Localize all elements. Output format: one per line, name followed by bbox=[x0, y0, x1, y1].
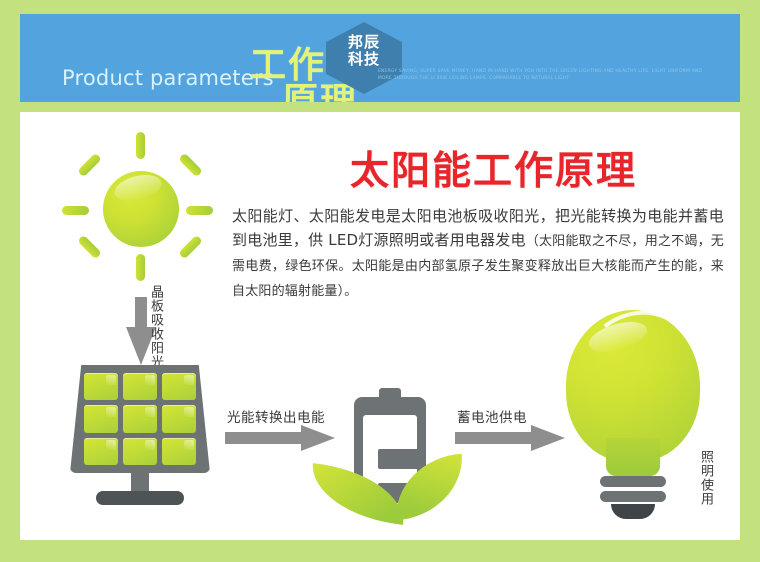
arrow-shaft bbox=[135, 297, 147, 331]
absorb-sunlight-label: 晶板吸收阳光 bbox=[148, 285, 163, 369]
brand-logo-line2: 科技 bbox=[326, 51, 402, 68]
arrow-shaft bbox=[455, 432, 533, 444]
solar-panel-stand-base bbox=[96, 491, 184, 505]
solar-panel-icon bbox=[60, 365, 220, 517]
lighting-use-label: 照明使用 bbox=[698, 450, 713, 506]
sun-ray-top-left bbox=[77, 153, 102, 178]
bulb-screw-thread bbox=[600, 476, 666, 487]
flow-label-light-to-electricity: 光能转换出电能 bbox=[227, 406, 325, 426]
solar-cell bbox=[123, 438, 157, 465]
sun-ray-right bbox=[186, 206, 213, 215]
page-title: 太阳能工作原理 bbox=[350, 140, 637, 196]
solar-cell bbox=[162, 438, 196, 465]
header-banner: Product parameters 工作 原理 邦辰 科技 ENERGY SA… bbox=[20, 14, 740, 102]
solar-cell-grid bbox=[84, 373, 196, 465]
brand-logo-text: 邦辰 科技 bbox=[326, 34, 402, 68]
solar-cell bbox=[84, 405, 118, 432]
arrow-head bbox=[301, 425, 335, 451]
solar-cell bbox=[162, 405, 196, 432]
leaf-icon-group bbox=[310, 450, 470, 522]
bulb-base-tip bbox=[611, 504, 655, 519]
bulb-neck bbox=[606, 438, 660, 476]
description-paragraph: 太阳能灯、太阳能发电是太阳电池板吸收阳光，把光能转换为电能并蓄电到电池里，供 L… bbox=[232, 204, 724, 303]
solar-cell bbox=[84, 373, 118, 400]
content-panel: 晶板吸收阳光 光能转换出电能 bbox=[20, 112, 740, 540]
sun-icon bbox=[58, 128, 218, 288]
solar-cell bbox=[123, 405, 157, 432]
solar-cell bbox=[123, 373, 157, 400]
light-bulb-icon bbox=[548, 310, 718, 520]
solar-cell bbox=[162, 373, 196, 400]
arrow-shaft bbox=[225, 432, 303, 444]
product-parameters-label: Product parameters bbox=[62, 66, 274, 90]
leaf-icon-left bbox=[308, 463, 409, 525]
flow-label-battery-supply: 蓄电池供电 bbox=[457, 406, 527, 426]
sun-ray-bottom bbox=[136, 254, 145, 281]
solar-cell bbox=[84, 438, 118, 465]
poster-root: Product parameters 工作 原理 邦辰 科技 ENERGY SA… bbox=[0, 0, 760, 562]
brand-logo-line1: 邦辰 bbox=[326, 34, 402, 51]
sun-ray-bottom-right bbox=[178, 235, 203, 260]
header-english-tagline: ENERGY SAVING, SUPER SAVE MONEY, HAND IN… bbox=[378, 68, 708, 82]
brand-logo: 邦辰 科技 bbox=[326, 22, 402, 94]
sun-ray-bottom-left bbox=[77, 235, 102, 260]
bulb-screw-thread bbox=[600, 491, 666, 502]
sun-ray-top-right bbox=[178, 153, 203, 178]
sun-ray-top bbox=[136, 132, 145, 159]
arrow-right-icon-1 bbox=[225, 425, 335, 451]
sun-ray-left bbox=[62, 206, 89, 215]
leaf-icon-right bbox=[392, 454, 466, 521]
